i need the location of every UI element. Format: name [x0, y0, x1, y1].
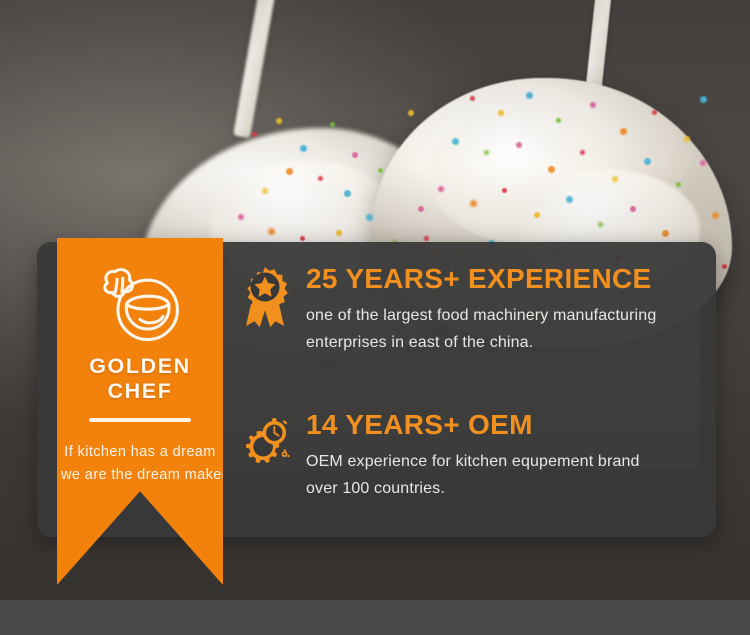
sprinkle	[300, 236, 305, 241]
feature-block-oem: 14 YEARS+ OEM OEM experience for kitchen…	[238, 408, 708, 502]
sprinkle	[700, 160, 706, 166]
feature-description: OEM experience for kitchen equpement bra…	[306, 448, 708, 502]
feature-desc-line-2: over 100 countries.	[306, 475, 708, 502]
straw-back	[233, 0, 276, 138]
sprinkle	[286, 168, 293, 175]
sprinkle	[652, 110, 657, 115]
sprinkle	[516, 142, 522, 148]
feature-desc-line-1: one of the largest food machinery manufa…	[306, 302, 708, 329]
sprinkle	[484, 150, 489, 155]
sprinkle	[408, 110, 414, 116]
sprinkle	[452, 138, 459, 145]
sprinkle	[676, 182, 681, 187]
tagline-line-1: If kitchen has a dream	[61, 441, 219, 464]
sprinkle	[318, 176, 323, 181]
sprinkle	[700, 96, 707, 103]
feature-description: one of the largest food machinery manufa…	[306, 302, 708, 356]
sprinkle	[262, 188, 268, 194]
feature-title: 25 YEARS+ EXPERIENCE	[306, 262, 708, 296]
sprinkle	[238, 214, 244, 220]
feature-desc-line-2: enterprises in east of the china.	[306, 329, 708, 356]
sprinkle	[630, 206, 636, 212]
sprinkle	[336, 230, 342, 236]
straw-front	[583, 0, 613, 112]
award-ribbon-star-icon	[238, 266, 292, 328]
sprinkle	[598, 222, 603, 227]
sprinkle	[534, 212, 540, 218]
sprinkle	[438, 186, 444, 192]
feature-block-experience: 25 YEARS+ EXPERIENCE one of the largest …	[238, 262, 708, 356]
sprinkle	[548, 166, 555, 173]
sprinkle	[526, 92, 533, 99]
sprinkle	[722, 264, 727, 269]
sprinkle	[330, 122, 335, 127]
sprinkle	[662, 230, 669, 237]
feature-title: 14 YEARS+ OEM	[306, 408, 708, 442]
sprinkle	[556, 118, 561, 123]
sprinkle	[612, 176, 618, 182]
feature-desc-line-1: OEM experience for kitchen equpement bra…	[306, 448, 708, 475]
sprinkle	[590, 102, 596, 108]
brand-tagline: If kitchen has a dream we are the dream …	[57, 441, 223, 487]
sprinkle	[498, 110, 504, 116]
sprinkle	[378, 168, 383, 173]
sprinkle	[300, 145, 307, 152]
sprinkle	[470, 96, 475, 101]
sprinkle	[644, 158, 651, 165]
sprinkle	[352, 152, 358, 158]
ribbon-divider	[89, 418, 191, 422]
sprinkle	[712, 212, 719, 219]
gear-stopwatch-icon	[238, 412, 292, 474]
sprinkle	[418, 206, 424, 212]
sprinkle	[366, 214, 373, 221]
feature-body: 14 YEARS+ OEM OEM experience for kitchen…	[306, 408, 708, 502]
sprinkle	[620, 128, 627, 135]
sprinkle	[502, 188, 507, 193]
sprinkle	[424, 236, 429, 241]
sprinkle	[268, 228, 275, 235]
brand-name: GOLDEN CHEF	[57, 354, 223, 404]
sprinkle	[470, 200, 477, 207]
banner-stage: GOLDEN CHEF If kitchen has a dream we ar…	[0, 0, 750, 635]
sprinkle	[580, 150, 585, 155]
sprinkle	[344, 190, 351, 197]
sprinkle	[566, 196, 573, 203]
golden-chef-logo-icon	[92, 260, 188, 352]
sprinkle	[684, 136, 690, 142]
cream-swirl-front-1	[430, 105, 630, 245]
sprinkle	[276, 118, 282, 124]
feature-body: 25 YEARS+ EXPERIENCE one of the largest …	[306, 262, 708, 356]
sprinkle	[252, 132, 257, 137]
tagline-line-2: we are the dream maker!	[61, 464, 219, 487]
